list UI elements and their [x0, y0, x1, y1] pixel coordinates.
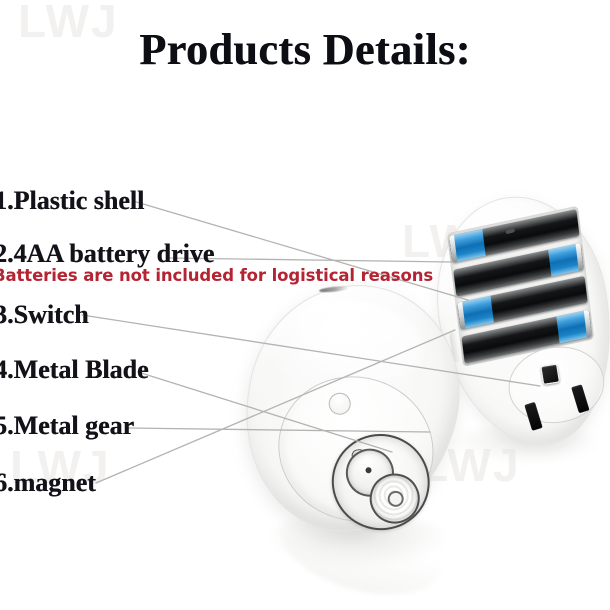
- front-device-dial: [261, 358, 451, 540]
- battery-compartment: [447, 206, 595, 367]
- feature-label-magnet: 6.magnet: [0, 468, 96, 498]
- feature-label-plastic-shell: 1.Plastic shell: [0, 186, 144, 216]
- power-switch[interactable]: [541, 364, 561, 385]
- magnet-pin: [326, 390, 353, 417]
- shell-top-notch: [318, 285, 348, 293]
- battery-exclusion-note: Batteries are not included for logistica…: [0, 266, 433, 286]
- feature-label-battery-drive: 2.4AA battery drive: [0, 239, 214, 269]
- feature-label-metal-blade: 4.Metal Blade: [0, 355, 149, 385]
- product-details-page: LWJ LWJ LWJ LWJ Products Details:: [0, 0, 610, 610]
- feature-label-switch: 3.Switch: [0, 300, 89, 330]
- feature-label-metal-gear: 5.Metal gear: [0, 411, 134, 441]
- product-photo-stage: [0, 0, 610, 610]
